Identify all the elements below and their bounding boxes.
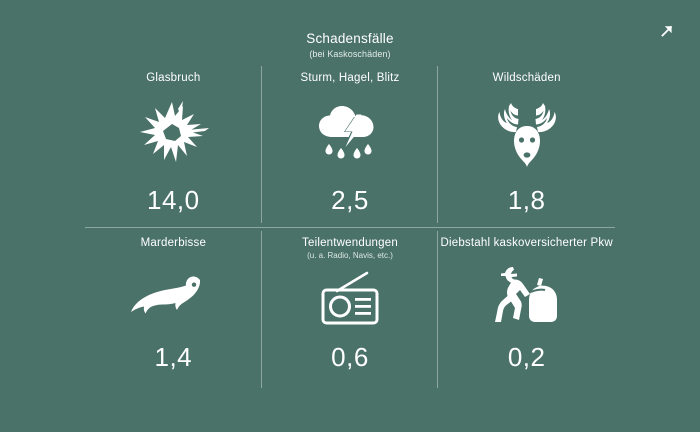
stat-cell-teilentwendungen[interactable]: Teilentwendungen (u. a. Radio, Navis, et… <box>262 227 439 392</box>
deer-head-icon <box>438 84 615 187</box>
header: Schadensfälle (bei Kaskoschäden) <box>0 30 700 59</box>
stat-cell-sturm-hagel-blitz[interactable]: Sturm, Hagel, Blitz 2,5 <box>262 62 439 227</box>
stat-value: 1,8 <box>508 187 546 213</box>
stat-value: 0,2 <box>508 344 546 370</box>
shattered-glass-icon <box>85 84 262 187</box>
car-radio-icon <box>262 260 439 344</box>
stat-value: 2,5 <box>331 187 369 213</box>
stat-title: Wildschäden <box>493 72 561 84</box>
stat-subtitle: (u. a. Radio, Navis, etc.) <box>307 251 393 260</box>
infographic-root: Schadensfälle (bei Kaskoschäden) Glasbru… <box>0 0 700 432</box>
stat-title: Diebstahl kaskoversicherter Pkw <box>440 237 612 249</box>
thief-with-bag-icon <box>438 249 615 344</box>
stat-title: Marderbisse <box>141 237 206 249</box>
stat-title: Sturm, Hagel, Blitz <box>300 72 399 84</box>
marten-icon <box>85 249 262 344</box>
stat-cell-glasbruch[interactable]: Glasbruch 14,0 <box>85 62 262 227</box>
stat-value: 1,4 <box>155 344 193 370</box>
page-subtitle: (bei Kaskoschäden) <box>0 49 700 59</box>
page-title: Schadensfälle <box>0 30 700 48</box>
stat-value: 0,6 <box>331 344 369 370</box>
stats-grid: Glasbruch 14,0 Sturm, Hagel, Blitz <box>85 62 615 392</box>
stat-title: Teilentwendungen <box>302 237 398 249</box>
stat-cell-diebstahl[interactable]: Diebstahl kaskoversicherter Pkw 0,2 <box>438 227 615 392</box>
stat-value: 14,0 <box>147 187 200 213</box>
stat-title: Glasbruch <box>146 72 200 84</box>
stat-cell-marderbisse[interactable]: Marderbisse 1,4 <box>85 227 262 392</box>
storm-cloud-lightning-rain-icon <box>262 84 439 187</box>
stat-cell-wildschaeden[interactable]: Wildschäden 1,8 <box>438 62 615 227</box>
